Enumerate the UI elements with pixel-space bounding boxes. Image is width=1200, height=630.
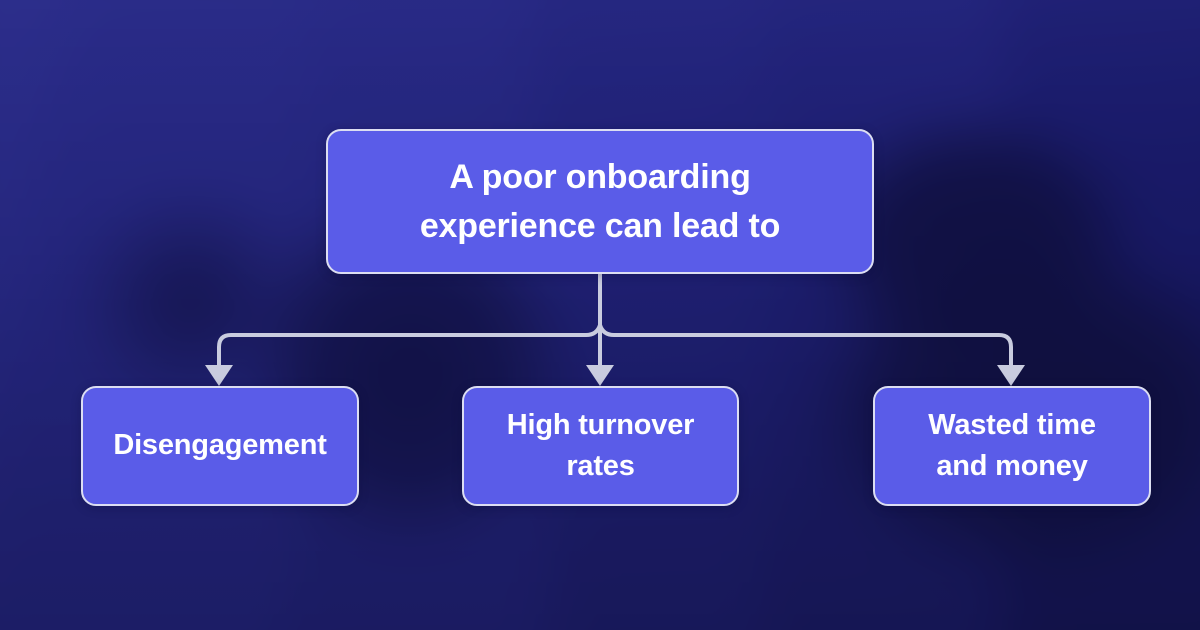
- node-child-3: Wasted time and money: [873, 386, 1151, 506]
- node-root-label: A poor onboarding experience can lead to: [420, 153, 780, 251]
- connector-layer: [0, 0, 1200, 630]
- node-child-1-label-line1: Disengagement: [113, 429, 326, 461]
- node-child-2-label-line2: rates: [566, 450, 634, 482]
- node-child-2: High turnover rates: [462, 386, 739, 506]
- connector-bus-right: [600, 325, 999, 335]
- node-child-3-label-line1: Wasted time: [928, 409, 1096, 441]
- node-child-3-label-line2: and money: [936, 450, 1087, 482]
- arrowhead-child-2: [586, 365, 614, 386]
- node-child-1: Disengagement: [81, 386, 359, 506]
- connector-bus-left: [231, 325, 600, 335]
- node-root: A poor onboarding experience can lead to: [326, 129, 874, 274]
- node-child-2-label: High turnover rates: [507, 405, 695, 487]
- node-root-label-line1: A poor onboarding: [449, 158, 750, 196]
- arrowhead-child-3: [997, 365, 1025, 386]
- node-child-3-label: Wasted time and money: [928, 405, 1096, 487]
- connector-root-to-child-1: [219, 335, 231, 367]
- node-child-1-label: Disengagement: [113, 425, 326, 466]
- node-root-label-line2: experience can lead to: [420, 207, 780, 245]
- node-child-2-label-line1: High turnover: [507, 409, 695, 441]
- infographic-canvas: A poor onboarding experience can lead to…: [0, 0, 1200, 630]
- arrowhead-child-1: [205, 365, 233, 386]
- connector-root-to-child-3: [999, 335, 1011, 367]
